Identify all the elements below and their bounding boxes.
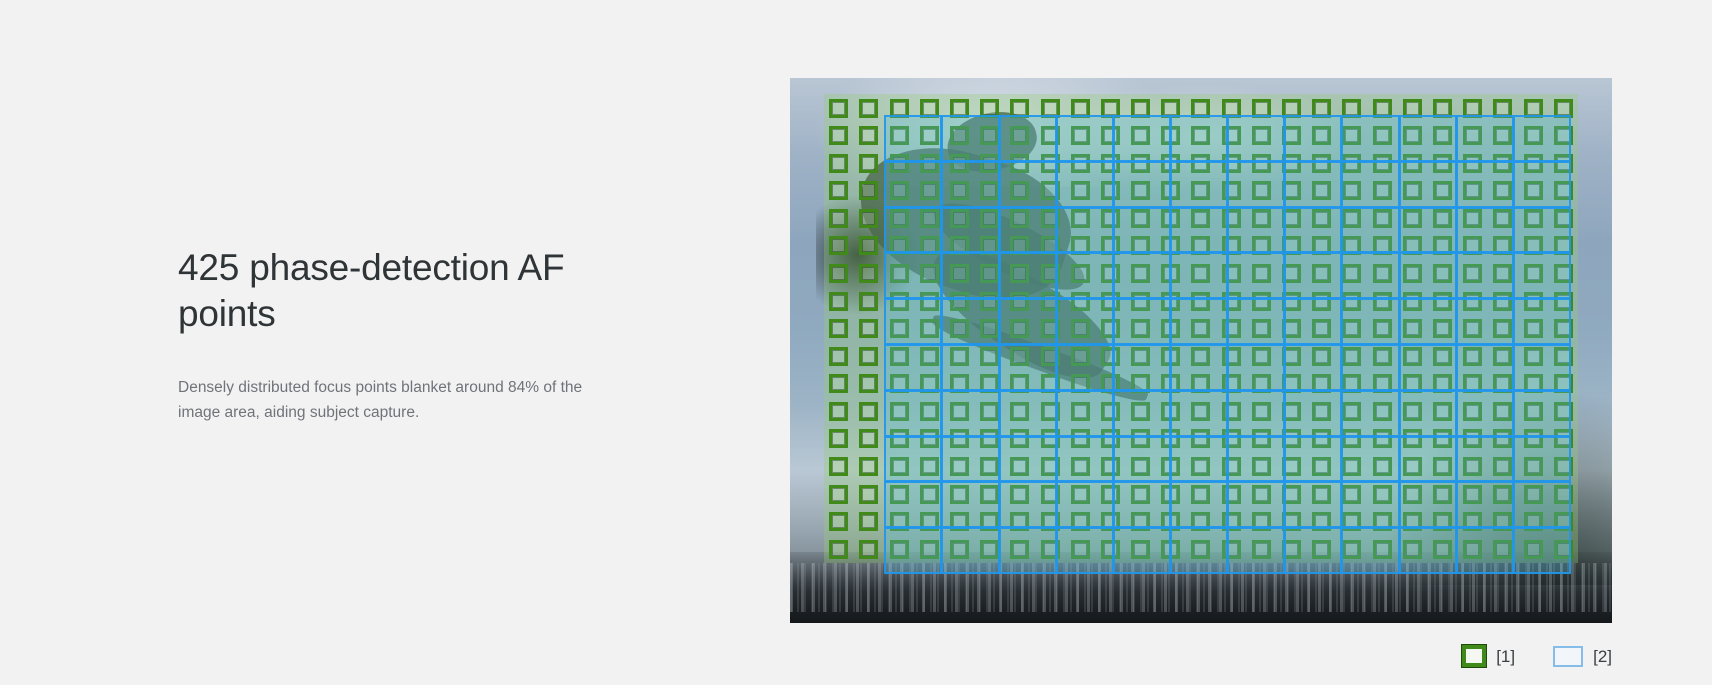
city-buildings-texture bbox=[790, 563, 1612, 612]
page-title: 425 phase-detection AF points bbox=[178, 245, 578, 337]
green-af-point-swatch-icon bbox=[1462, 645, 1486, 667]
legend-label-1: [1] bbox=[1496, 648, 1515, 665]
af-coverage-image bbox=[790, 78, 1612, 623]
feature-description: Densely distributed focus points blanket… bbox=[178, 375, 628, 425]
legend-label-2: [2] bbox=[1593, 648, 1612, 665]
legend-item-1: [1] bbox=[1462, 645, 1515, 667]
feature-text-column: 425 phase-detection AF points Densely di… bbox=[178, 245, 648, 425]
snowboarder-subject bbox=[823, 100, 1168, 438]
photo-scene bbox=[790, 78, 1612, 623]
legend-item-2: [2] bbox=[1553, 646, 1612, 667]
legend: [1] [2] bbox=[1462, 645, 1612, 667]
blue-metering-swatch-icon bbox=[1553, 646, 1583, 667]
feature-section: 425 phase-detection AF points Densely di… bbox=[0, 0, 1712, 685]
